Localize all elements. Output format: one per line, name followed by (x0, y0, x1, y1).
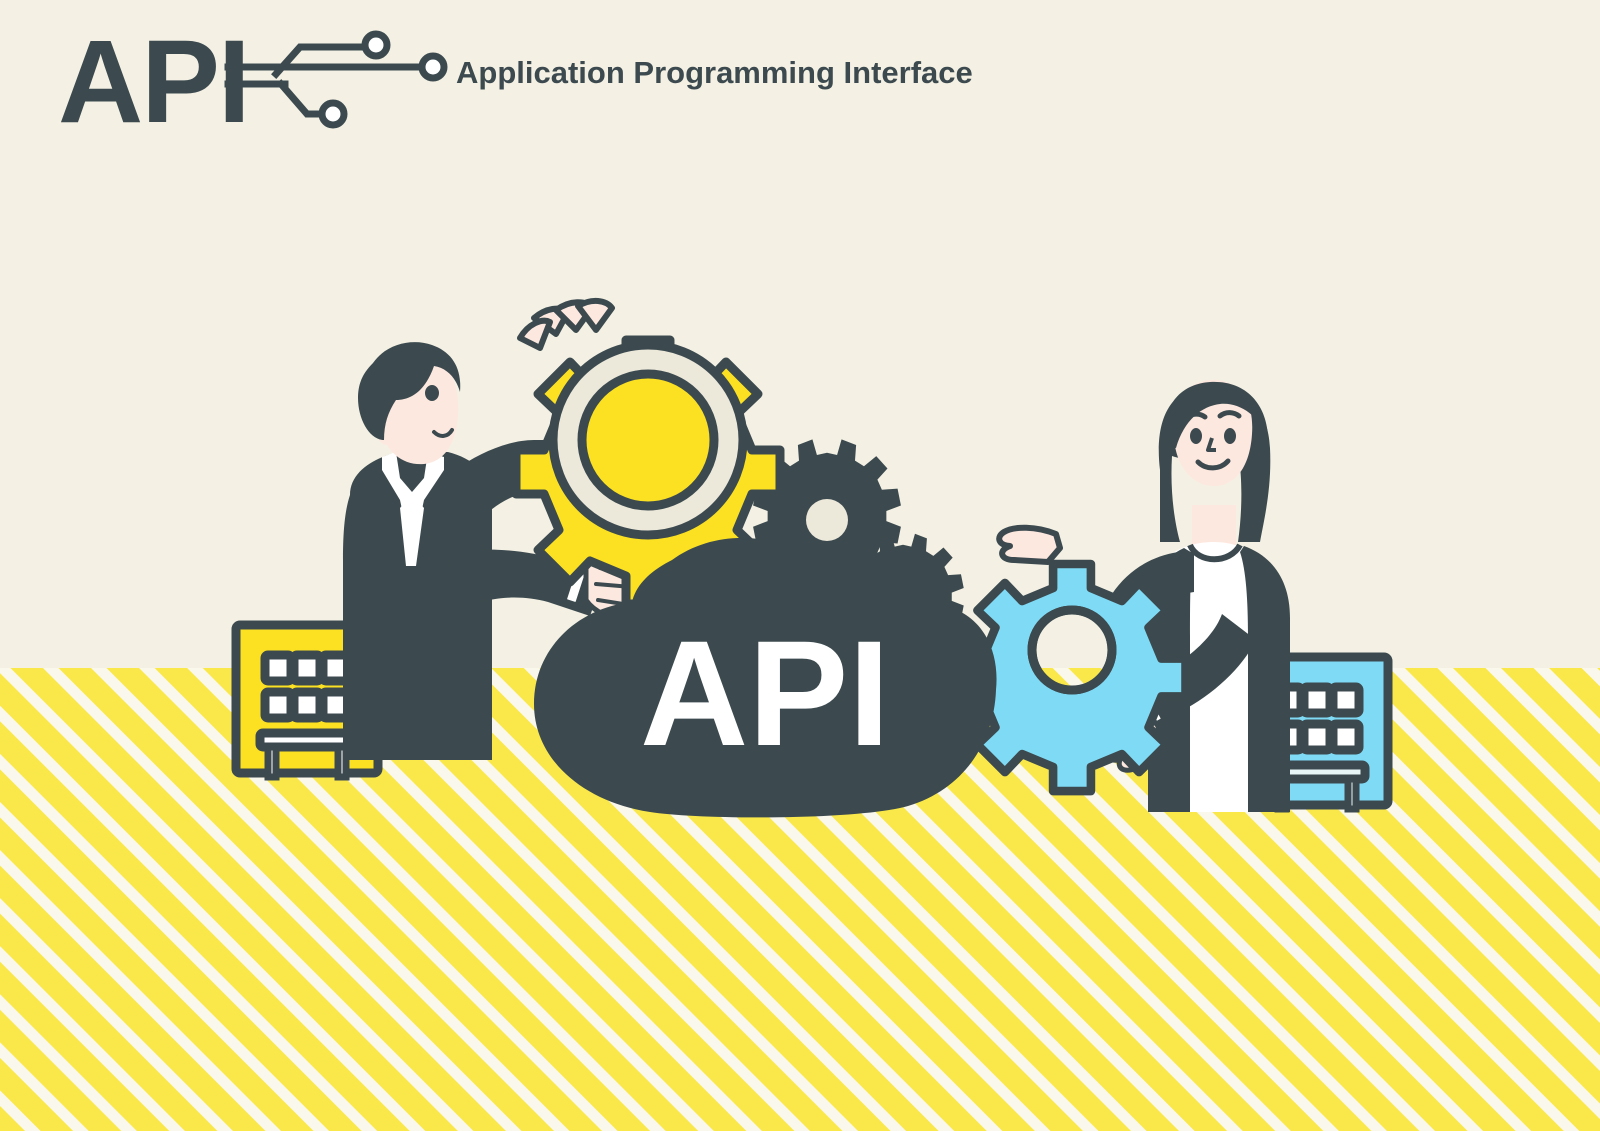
window (294, 692, 320, 718)
window (1333, 724, 1359, 750)
circuit-node-up-icon (365, 34, 387, 56)
blue-building-pillar-right (1348, 779, 1356, 809)
window (294, 655, 320, 681)
window (1304, 687, 1330, 713)
window (265, 655, 291, 681)
window (1333, 687, 1359, 713)
header-subtitle: Application Programming Interface (456, 55, 973, 90)
logo-api-text: API (58, 16, 249, 148)
businesswoman-eye-right (1224, 428, 1236, 444)
circuit-node-down-icon (322, 103, 344, 125)
api-illustration: API Application Programming Interface (0, 0, 1600, 1131)
businesswoman-hand-upper (999, 528, 1060, 562)
yellow-gear-hub (582, 374, 714, 506)
window (265, 692, 291, 718)
window (1304, 724, 1330, 750)
businessman-eye (425, 385, 439, 401)
illustration-canvas: API Application Programming Interface (0, 0, 1600, 1131)
yellow-building-pillar-left (268, 747, 276, 777)
businesswoman-eye-left (1190, 428, 1202, 444)
api-cloud-label: API (640, 609, 890, 777)
circuit-node-straight-icon (422, 56, 444, 78)
